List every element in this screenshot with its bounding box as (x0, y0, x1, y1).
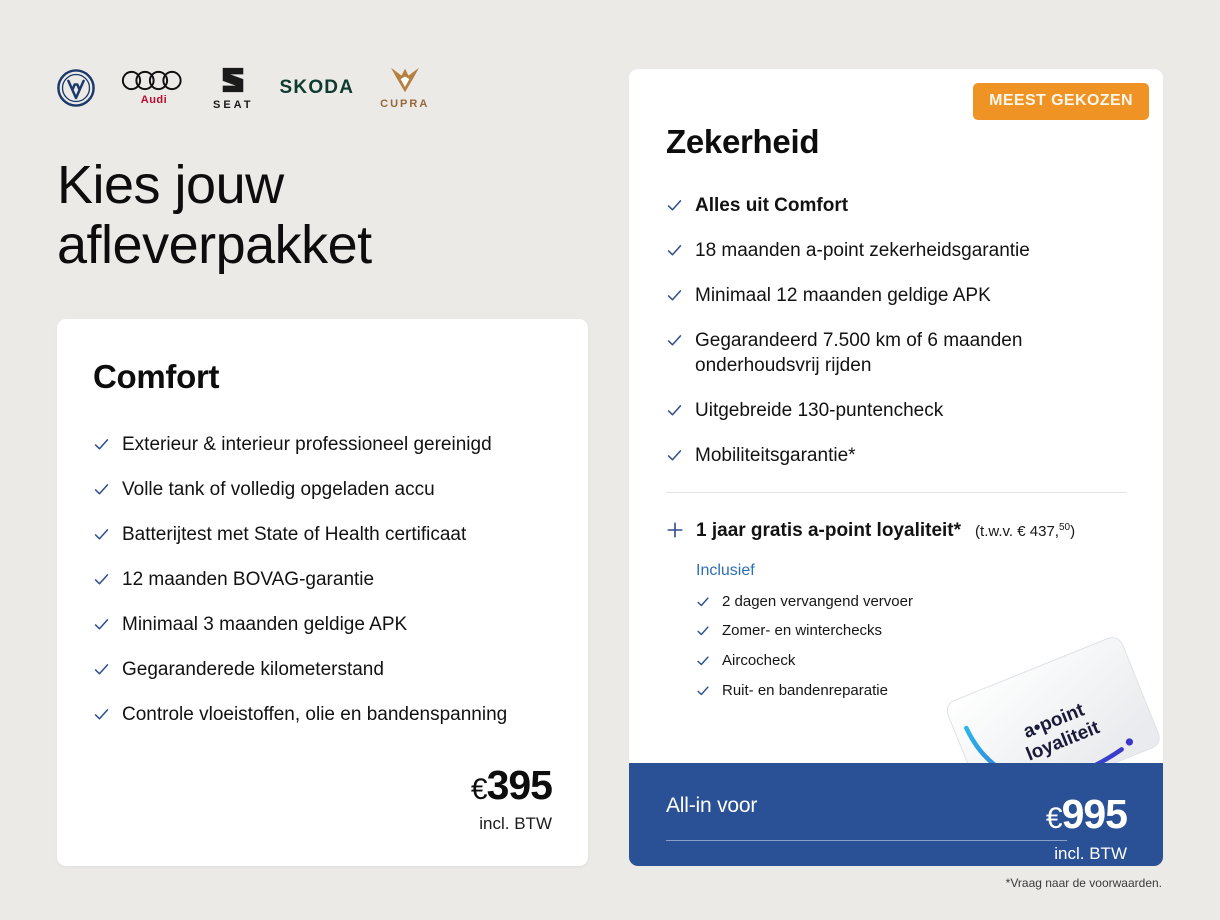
feature-label: Gegarandeerd 7.500 km of 6 maanden onder… (695, 328, 1127, 378)
feature-label: Minimaal 12 maanden geldige APK (695, 283, 991, 308)
list-item: 2 dagen vervangend vervoer (696, 592, 1127, 612)
check-icon (696, 624, 710, 638)
list-item: Batterijtest met State of Health certifi… (93, 522, 554, 547)
list-item: Gegaranderede kilometerstand (93, 657, 554, 682)
feature-label: Alles uit Comfort (695, 193, 848, 218)
skoda-logo: SKODA (280, 77, 355, 99)
check-icon (93, 616, 110, 633)
seat-logo-icon (219, 65, 247, 95)
inclusief-list: 2 dagen vervangend vervoer Zomer- en win… (696, 592, 1127, 701)
comfort-price: €395 (471, 765, 552, 806)
feature-label: Uitgebreide 130-puntencheck (695, 398, 943, 423)
comfort-card-title: Comfort (93, 358, 554, 396)
check-icon (666, 332, 683, 349)
price-amount: 995 (1062, 791, 1127, 837)
list-item: Minimaal 12 maanden geldige APK (666, 283, 1127, 308)
loyalty-header: 1 jaar gratis a-point loyaliteit* (t.w.v… (666, 520, 1127, 542)
feature-label: Mobiliteitsgarantie* (695, 443, 856, 468)
inclusief-item-label: Ruit- en bandenreparatie (722, 681, 888, 701)
list-item: Gegarandeerd 7.500 km of 6 maanden onder… (666, 328, 1127, 378)
check-icon (696, 684, 710, 698)
comfort-feature-list: Exterieur & interieur professioneel gere… (93, 432, 554, 728)
feature-label: Volle tank of volledig opgeladen accu (122, 477, 435, 502)
zekerheid-card-title: Zekerheid (666, 123, 1127, 161)
cupra-logo: CUPRA (380, 66, 429, 110)
list-item: 12 maanden BOVAG-garantie (93, 567, 554, 592)
vw-logo-icon (57, 69, 95, 107)
audi-wordmark: Audi (141, 94, 167, 106)
zekerheid-feature-list: Alles uit Comfort 18 maanden a-point zek… (666, 193, 1127, 469)
loyalty-addon-section: 1 jaar gratis a-point loyaliteit* (t.w.v… (666, 520, 1127, 701)
inclusief-label: Inclusief (696, 562, 1127, 580)
check-icon (93, 436, 110, 453)
seat-logo: SEAT (213, 65, 254, 111)
seat-wordmark: SEAT (213, 99, 254, 111)
list-item: Alles uit Comfort (666, 193, 1127, 218)
loyalty-value: (t.w.v. € 437,50) (975, 522, 1075, 540)
audi-logo: Audi (121, 70, 187, 106)
loyalty-card-line1: a•point (1021, 699, 1088, 743)
check-icon (666, 447, 683, 464)
zekerheid-price-block: €995 incl. BTW (1046, 794, 1127, 864)
currency-symbol: € (471, 773, 487, 806)
check-icon (93, 706, 110, 723)
check-icon (696, 654, 710, 668)
footnote: *Vraag naar de voorwaarden. (1006, 876, 1162, 890)
check-icon (666, 197, 683, 214)
feature-label: 18 maanden a-point zekerheidsgarantie (695, 238, 1030, 263)
list-item: Uitgebreide 130-puntencheck (666, 398, 1127, 423)
list-item: 18 maanden a-point zekerheidsgarantie (666, 238, 1127, 263)
cupra-logo-icon (387, 66, 423, 94)
currency-symbol: € (1046, 802, 1062, 835)
plus-icon (666, 521, 684, 539)
skoda-wordmark: SKODA (280, 77, 355, 99)
loyalty-value-prefix: (t.w.v. € 437, (975, 523, 1059, 540)
check-icon (666, 402, 683, 419)
feature-label: Minimaal 3 maanden geldige APK (122, 612, 407, 637)
loyalty-title: 1 jaar gratis a-point loyaliteit* (696, 520, 961, 542)
status-badge: MEEST GEKOZEN (973, 83, 1149, 120)
list-item: Zomer- en winterchecks (696, 621, 1127, 641)
zekerheid-package-card[interactable]: MEEST GEKOZEN Zekerheid Alles uit Comfor… (629, 69, 1163, 866)
check-icon (666, 287, 683, 304)
check-icon (93, 526, 110, 543)
inclusief-item-label: Zomer- en winterchecks (722, 621, 882, 641)
loyalty-value-cents: 50 (1059, 522, 1070, 533)
feature-label: 12 maanden BOVAG-garantie (122, 567, 374, 592)
comfort-package-card[interactable]: Comfort Exterieur & interieur profession… (57, 319, 588, 866)
section-divider (666, 492, 1127, 493)
page-title: Kies jouw afleverpakket (57, 155, 372, 276)
list-item: Volle tank of volledig opgeladen accu (93, 477, 554, 502)
loyalty-card-line2: loyaliteit (1023, 717, 1103, 766)
inclusief-item-label: Aircocheck (722, 651, 795, 671)
list-item: Aircocheck (696, 651, 1127, 671)
list-item: Ruit- en bandenreparatie (696, 681, 1127, 701)
check-icon (666, 242, 683, 259)
zekerheid-price-footer: All-in voor €995 incl. BTW (629, 763, 1163, 866)
footer-rule (666, 840, 1067, 841)
feature-label: Gegaranderede kilometerstand (122, 657, 384, 682)
audi-logo-icon (121, 70, 187, 91)
vw-logo (57, 69, 95, 107)
loyalty-value-suffix: ) (1070, 523, 1075, 540)
allin-label: All-in voor (666, 794, 757, 818)
inclusief-item-label: 2 dagen vervangend vervoer (722, 592, 913, 612)
list-item: Controle vloeistoffen, olie en bandenspa… (93, 702, 554, 727)
check-icon (696, 595, 710, 609)
price-amount: 395 (487, 762, 552, 808)
zekerheid-price-note: incl. BTW (1046, 844, 1127, 864)
list-item: Minimaal 3 maanden geldige APK (93, 612, 554, 637)
zekerheid-price: €995 (1046, 794, 1127, 835)
comfort-price-block: €395 incl. BTW (471, 765, 552, 834)
cupra-wordmark: CUPRA (380, 98, 429, 110)
check-icon (93, 661, 110, 678)
check-icon (93, 571, 110, 588)
feature-label: Controle vloeistoffen, olie en bandenspa… (122, 702, 507, 727)
comfort-price-note: incl. BTW (471, 814, 552, 834)
list-item: Exterieur & interieur professioneel gere… (93, 432, 554, 457)
feature-label: Exterieur & interieur professioneel gere… (122, 432, 492, 457)
list-item: Mobiliteitsgarantie* (666, 443, 1127, 468)
feature-label: Batterijtest met State of Health certifi… (122, 522, 466, 547)
check-icon (93, 481, 110, 498)
brand-logo-strip: Audi SEAT SKODA CUPRA (57, 62, 429, 114)
